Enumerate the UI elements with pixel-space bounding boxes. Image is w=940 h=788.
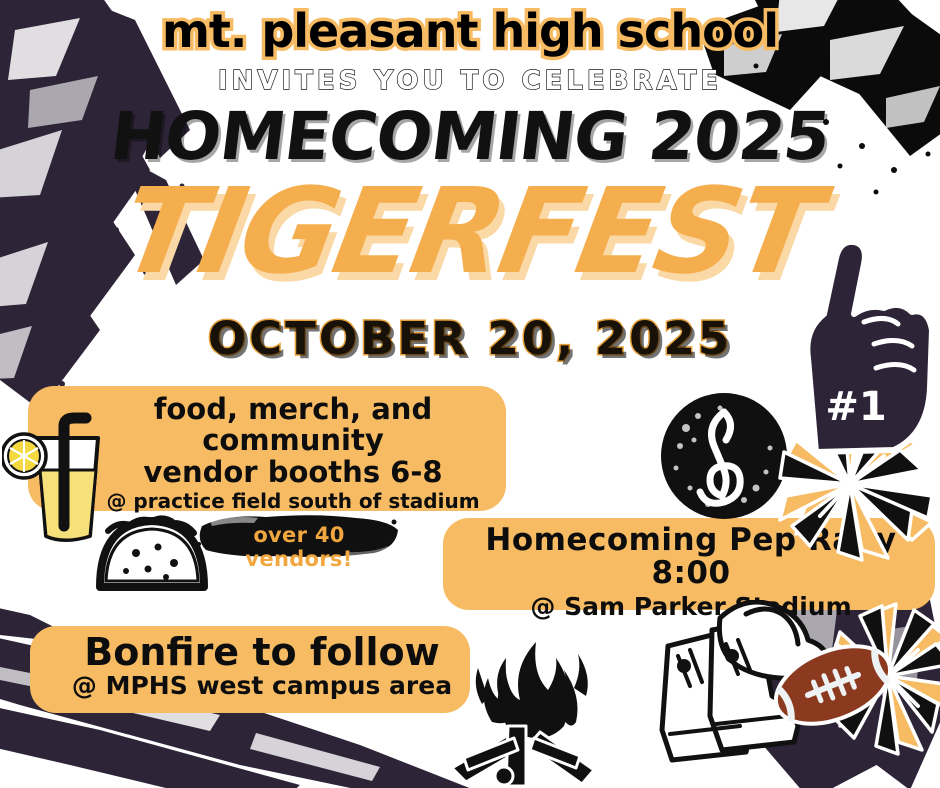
invites-line: INVITES YOU TO CELEBRATE bbox=[0, 66, 940, 96]
taco-icon bbox=[92, 505, 212, 595]
cowboy-boots-hat-icon bbox=[650, 600, 840, 785]
badge-label: over 40 vendors! bbox=[196, 523, 402, 571]
school-name: mt. pleasant high school bbox=[0, 4, 940, 58]
vendor-line-3: @ practice field south of stadium bbox=[98, 491, 488, 513]
homecoming-poster: mt. pleasant high school INVITES YOU TO … bbox=[0, 0, 940, 788]
bonfire-info-box: Bonfire to follow @ MPHS west campus are… bbox=[30, 626, 470, 713]
festival-name-wrap: TIGERFEST TIGERFEST bbox=[0, 172, 940, 302]
vendor-line-1: food, merch, and community bbox=[98, 394, 488, 457]
pep-rally-info-box: Homecoming Pep Rally 8:00 @ Sam Parker S… bbox=[443, 518, 935, 610]
festival-name: TIGERFEST bbox=[0, 172, 940, 290]
music-note-circle-icon bbox=[656, 388, 792, 524]
foam-finger-label: #1 bbox=[825, 384, 886, 430]
rally-line-2: @ Sam Parker Stadium bbox=[461, 593, 921, 620]
vendor-info-box: food, merch, and community vendor booths… bbox=[28, 386, 506, 511]
vendors-badge: over 40 vendors! bbox=[196, 512, 402, 560]
bonfire-icon bbox=[448, 618, 598, 788]
event-date: OCTOBER 20, 2025 bbox=[0, 312, 940, 365]
vendor-line-2: vendor booths 6-8 bbox=[98, 457, 488, 488]
bonfire-line-2: @ MPHS west campus area bbox=[70, 672, 454, 699]
rally-line-1: Homecoming Pep Rally 8:00 bbox=[461, 524, 921, 591]
bonfire-line-1: Bonfire to follow bbox=[70, 632, 454, 673]
event-title: HOMECOMING 2025 bbox=[0, 98, 940, 175]
football-icon bbox=[768, 630, 898, 740]
